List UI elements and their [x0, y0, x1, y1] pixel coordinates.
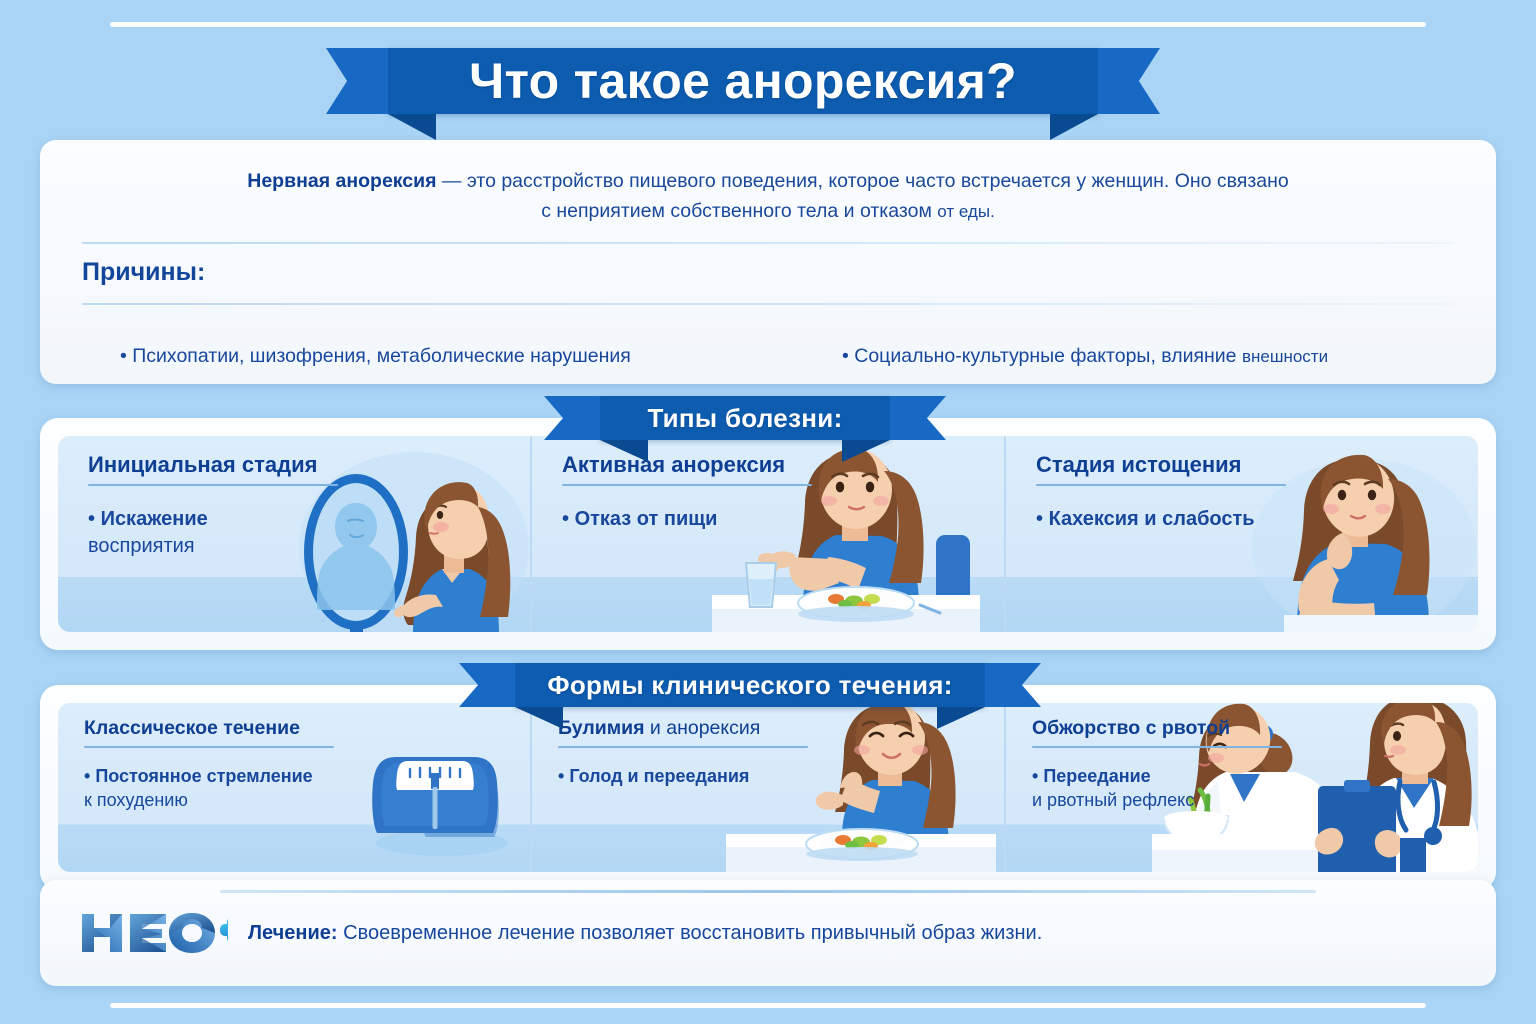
form-card-3-bullet-bold: Переедание: [1043, 766, 1150, 786]
type-card-1-bullet-rest: восприятия: [88, 535, 195, 557]
cause-item-1: • Психопатии, шизофрения, метаболические…: [82, 345, 842, 368]
cause-2-text-small: внешности: [1242, 347, 1328, 366]
types-section-ribbon: Типы болезни:: [600, 396, 890, 440]
bottom-decorative-rule: [110, 1003, 1426, 1008]
treatment-body: Своевременное лечение позволяет восстано…: [338, 922, 1043, 944]
intro-divider: [82, 242, 1454, 244]
form-card-1-bullet: • Постоянное стремление к похудению: [84, 764, 324, 813]
footer-panel: Лечение: Своевременное лечение позволяет…: [40, 880, 1496, 986]
top-decorative-rule: [110, 22, 1426, 27]
type-card-initial-stage[interactable]: Инициальная стадия • Искажение восприяти…: [58, 436, 530, 632]
form-card-3-bullet: • Переедание и рвотный рефлекс: [1032, 764, 1272, 813]
intro-lead-term: Нервная анорексия: [247, 170, 436, 192]
ribbon-fold-left: [388, 114, 436, 140]
type-card-3-title: Стадия истощения: [1036, 452, 1458, 478]
form-card-3-bullet-rest: и рвотный рефлекс: [1032, 790, 1194, 810]
neo-plus-logo-icon: [80, 910, 228, 956]
causes-heading: Причины:: [82, 258, 1454, 287]
form-card-3-title: Обжорство с рвотой: [1032, 717, 1462, 740]
type-card-exhaustion-stage[interactable]: Стадия истощения • Кахексия и слабость: [1004, 436, 1478, 632]
intro-line2-main: с неприятием собственного тела и отказом: [541, 200, 937, 222]
types-panel: Инициальная стадия • Искажение восприяти…: [40, 418, 1496, 650]
cause-1-bullet: •: [120, 345, 127, 367]
footer-top-rule: [220, 890, 1316, 893]
types-card-row: Инициальная стадия • Искажение восприяти…: [58, 436, 1478, 632]
forms-section-title: Формы клинического течения:: [547, 670, 952, 701]
type-card-2-bullet-bold: Отказ от пищи: [575, 508, 718, 530]
intro-panel: Нервная анорексия — это расстройство пищ…: [40, 140, 1496, 384]
type-card-3-underline: [1036, 484, 1286, 486]
bathroom-scale-illustration: [356, 725, 516, 860]
form-card-3-underline: [1032, 746, 1282, 748]
ribbon-fold-right: [1050, 114, 1098, 140]
form-card-2-underline: [558, 746, 808, 748]
type-card-3-bullet-bold: Кахексия и слабость: [1049, 508, 1255, 530]
forms-panel: Классическое течение • Постоянное стремл…: [40, 685, 1496, 890]
intro-line2-small: от еды.: [937, 202, 995, 221]
causes-list: • Психопатии, шизофрения, метаболические…: [82, 345, 1454, 368]
intro-paragraph: Нервная анорексия — это расстройство пищ…: [82, 166, 1454, 226]
form-card-1-bullet-bold: Постоянное стремление: [95, 766, 312, 786]
type-card-2-bullet: • Отказ от пищи: [562, 506, 822, 533]
form-card-1-title: Классическое течение: [84, 717, 514, 740]
cause-2-bullet: •: [842, 345, 849, 367]
neo-plus-logo: [80, 910, 228, 956]
forms-section-ribbon: Формы клинического течения:: [515, 663, 985, 707]
form-card-bulimia[interactable]: Булимия и анорексия • Голод и переедания: [530, 703, 1004, 872]
type-card-1-underline: [88, 484, 338, 486]
page-title-ribbon: Что такое анорексия?: [388, 48, 1098, 114]
form-card-1-bullet-rest: к похудению: [84, 790, 188, 810]
form-card-binge-vomit[interactable]: Обжорство с рвотой • Переедание и рвотны…: [1004, 703, 1478, 872]
form-card-2-title-bold: Булимия: [558, 717, 645, 739]
form-card-classic-course[interactable]: Классическое течение • Постоянное стремл…: [58, 703, 530, 872]
intro-body: это расстройство пищевого поведения, кот…: [467, 170, 1289, 192]
treatment-note: Лечение: Своевременное лечение позволяет…: [248, 922, 1042, 945]
form-card-2-bullet: • Голод и переедания: [558, 764, 798, 788]
form-card-2-title: Булимия и анорексия: [558, 717, 988, 740]
form-card-1-underline: [84, 746, 334, 748]
types-section-title: Типы болезни:: [647, 403, 842, 434]
form-card-2-title-thin: и анорексия: [645, 717, 761, 739]
type-card-1-title: Инициальная стадия: [88, 452, 510, 478]
type-card-2-underline: [562, 484, 812, 486]
type-card-1-bullet-bold: Искажение: [101, 508, 208, 530]
type-card-3-bullet: • Кахексия и слабость: [1036, 506, 1296, 533]
page-title: Что такое анорексия?: [469, 52, 1017, 110]
cause-2-text: Социально-культурные факторы, влияние: [854, 345, 1242, 367]
type-card-1-bullet: • Искажение восприятия: [88, 506, 348, 560]
intro-dash: —: [437, 170, 467, 192]
forms-card-row: Классическое течение • Постоянное стремл…: [58, 703, 1478, 872]
type-card-2-title: Активная анорексия: [562, 452, 984, 478]
causes-divider: [82, 303, 1454, 305]
ribbon-tail-left: [326, 48, 388, 114]
treatment-label: Лечение:: [248, 922, 338, 944]
type-card-active-anorexia[interactable]: Активная анорексия • Отказ от пищи: [530, 436, 1004, 632]
form-card-2-bullet-bold: Голод и переедания: [569, 766, 749, 786]
cause-item-2: • Социально-культурные факторы, влияние …: [842, 345, 1454, 368]
cause-1-text: Психопатии, шизофрения, метаболические н…: [132, 345, 631, 367]
ribbon-tail-right: [1098, 48, 1160, 114]
